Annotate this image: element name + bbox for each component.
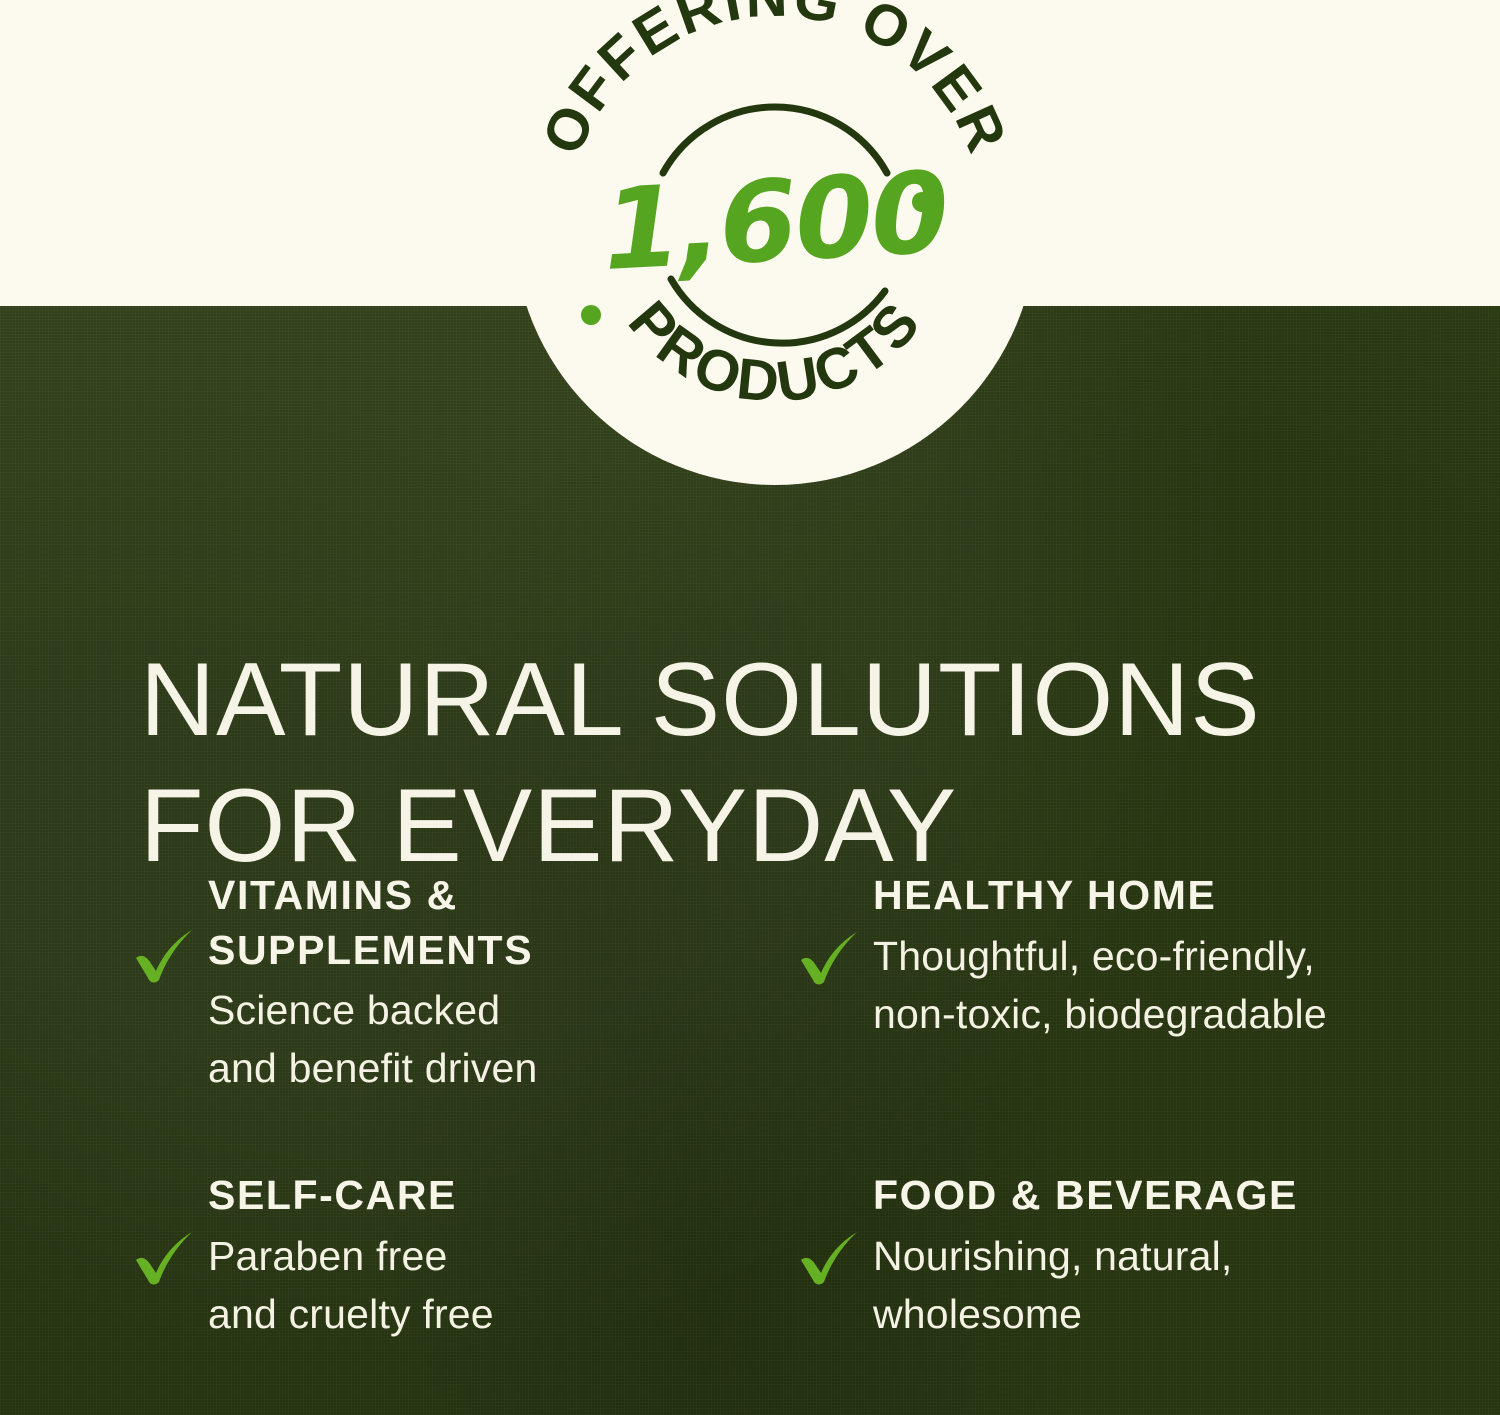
feature-title-line-1: FOOD & BEVERAGE (873, 1172, 1298, 1218)
feature-title: SELF-CARE (208, 1168, 494, 1223)
feature-desc-line-2: and cruelty free (208, 1285, 494, 1343)
check-icon (130, 918, 202, 990)
badge-arc-top-label: OFFERING OVER (530, 0, 1021, 164)
feature-title-line-1: VITAMINS & (208, 872, 458, 918)
feature-desc-line-1: Paraben free (208, 1227, 494, 1285)
page-title: NATURAL SOLUTIONS FOR EVERYDAY (140, 638, 1400, 890)
promotional-banner: OFFERING OVER PRODUCTS 1,600 NATURAL SOL… (0, 0, 1500, 1415)
feature-text-block: HEALTHY HOME Thoughtful, eco-friendly, n… (867, 868, 1327, 1043)
feature-title: FOOD & BEVERAGE (873, 1168, 1298, 1223)
feature-title-line-2: SUPPLEMENTS (208, 927, 533, 973)
feature-item-food-beverage: FOOD & BEVERAGE Nourishing, natural, who… (795, 1168, 1495, 1343)
feature-desc-line-2: and benefit driven (208, 1039, 785, 1097)
feature-description: Paraben free and cruelty free (208, 1227, 494, 1343)
feature-text-block: FOOD & BEVERAGE Nourishing, natural, who… (867, 1168, 1298, 1343)
feature-desc-line-2: wholesome (873, 1285, 1298, 1343)
feature-item-self-care: SELF-CARE Paraben free and cruelty free (130, 1168, 795, 1343)
offering-products-badge: OFFERING OVER PRODUCTS 1,600 (513, 0, 1037, 485)
feature-desc-line-1: Science backed (208, 981, 785, 1039)
headline-line-1: NATURAL SOLUTIONS (140, 638, 1400, 764)
feature-description: Nourishing, natural, wholesome (873, 1227, 1298, 1343)
feature-text-block: SELF-CARE Paraben free and cruelty free (202, 1168, 494, 1343)
badge-dot-left (581, 305, 601, 325)
feature-item-healthy-home: HEALTHY HOME Thoughtful, eco-friendly, n… (795, 868, 1495, 1168)
feature-desc-line-2: non-toxic, biodegradable (873, 985, 1327, 1043)
feature-desc-line-1: Nourishing, natural, (873, 1227, 1298, 1285)
feature-title-line-1: SELF-CARE (208, 1172, 457, 1218)
feature-text-block: VITAMINS & SUPPLEMENTS Science backed an… (202, 868, 785, 1097)
check-icon (130, 1220, 202, 1292)
check-icon (795, 920, 867, 992)
feature-title-line-1: HEALTHY HOME (873, 872, 1216, 918)
feature-item-vitamins-supplements: VITAMINS & SUPPLEMENTS Science backed an… (130, 868, 795, 1168)
feature-grid: VITAMINS & SUPPLEMENTS Science backed an… (0, 868, 1500, 1343)
feature-description: Science backed and benefit driven (208, 981, 785, 1097)
feature-title: VITAMINS & SUPPLEMENTS (208, 868, 785, 977)
feature-desc-line-1: Thoughtful, eco-friendly, (873, 927, 1327, 985)
feature-title: HEALTHY HOME (873, 868, 1327, 923)
badge-arc-bottom-label: PRODUCTS (616, 289, 934, 415)
check-icon (795, 1220, 867, 1292)
feature-description: Thoughtful, eco-friendly, non-toxic, bio… (873, 927, 1327, 1043)
